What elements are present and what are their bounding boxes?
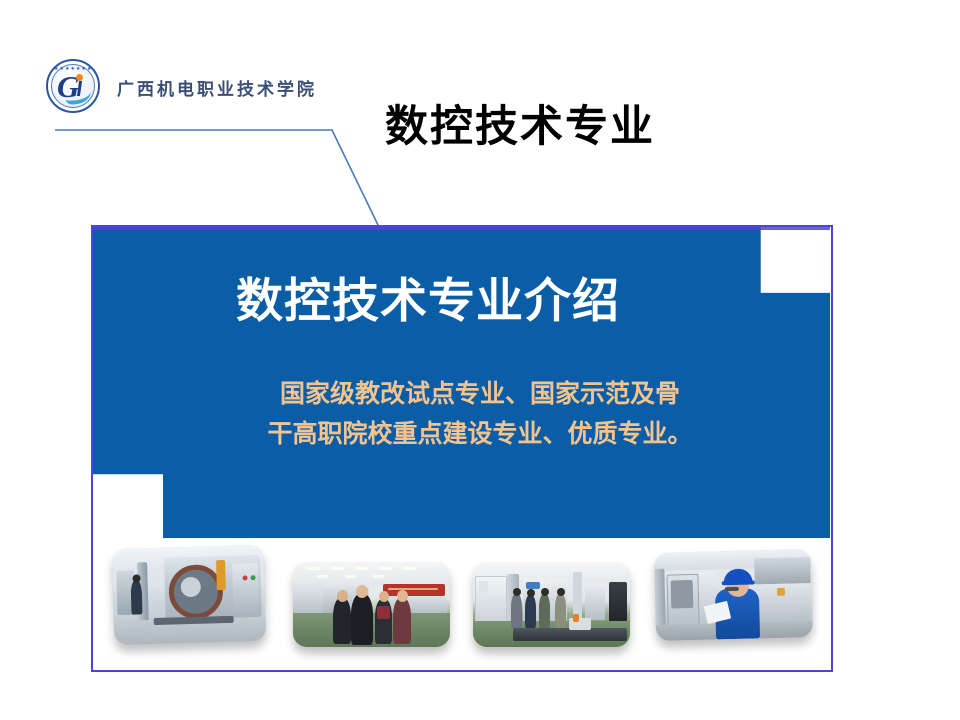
photo-4-overhead-rig (754, 557, 811, 584)
photo-2-lamp (317, 575, 328, 578)
photo-4-glasses-icon (725, 587, 739, 591)
photo-2-person-4 (393, 598, 411, 644)
photo-1-scene (112, 545, 267, 645)
photo-4-yellow-indicator (777, 588, 785, 596)
intro-subtitle: 国家级教改试点专业、国家示范及骨 干高职院校重点建设专业、优质专业。 (160, 374, 800, 454)
college-emblem-icon: ★★★★★★★ G (45, 58, 103, 116)
intro-block-top-edge (93, 227, 830, 230)
photo-engineer-blue-helmet (654, 549, 813, 641)
photo-3-dark-shelf (609, 582, 627, 622)
photo-3-student-3 (539, 594, 550, 628)
photo-2-person-2 (351, 594, 373, 645)
photo-3-student-1 (511, 594, 522, 628)
photo-2-red-banner (383, 584, 445, 596)
photo-2-machine-left (293, 582, 323, 614)
intro-subtitle-line-1: 国家级教改试点专业、国家示范及骨 (280, 379, 680, 408)
photo-3-student-4-head (557, 588, 565, 596)
photo-3-orange-part (573, 614, 579, 622)
photo-2-banner-text (388, 588, 438, 590)
leader-line-path (55, 130, 379, 227)
college-logo: ★★★★★★★ G 广西机电职业技术学院 (45, 56, 345, 118)
photo-2-lamp (307, 567, 320, 570)
photo-2-person-1-head (337, 590, 348, 602)
photo-3-rack (585, 586, 605, 620)
photo-1-cabinet-right (232, 563, 259, 612)
photo-vacuum-furnace-lab (112, 545, 267, 645)
intro-subtitle-line-2: 干高职院校重点建设专业、优质专业。 (160, 414, 800, 454)
photo-2-scene (293, 562, 450, 647)
photo-2-lamp (345, 575, 356, 578)
photo-1-indicator-red (242, 575, 247, 580)
slide-canvas: ★★★★★★★ G 广西机电职业技术学院 数控技术专业 数控技术专业介绍 国家级… (0, 0, 960, 720)
page-title: 数控技术专业 (385, 92, 655, 154)
photo-visitors-group (293, 562, 450, 647)
photo-3-student-2-head (527, 589, 535, 597)
photo-2-lamp (403, 567, 416, 570)
college-name-text: 广西机电职业技术学院 (117, 75, 317, 100)
photo-cnc-workshop-students (473, 562, 630, 647)
emblem-orange-dot-icon (76, 74, 83, 81)
photo-1-yellow-post (216, 560, 226, 590)
photo-2-lamp (379, 567, 392, 570)
photo-2-lamp (331, 567, 344, 570)
photo-3-student-3-head (541, 588, 549, 596)
photo-4-scene (654, 549, 813, 641)
photo-2-person-3-scarf (377, 606, 390, 619)
photo-3-student-2 (525, 595, 536, 628)
photo-4-panel-screen (671, 580, 694, 609)
photo-3-student-4 (555, 594, 566, 628)
photo-4-helmet-brim (722, 580, 755, 585)
photo-3-student-1-head (513, 588, 521, 596)
photo-2-person-4-head (397, 590, 408, 602)
photo-2-person-3-head (379, 591, 389, 602)
photo-1-worker-body (131, 580, 143, 614)
photo-2-person-2-head (356, 585, 368, 598)
photo-2-lamp (355, 567, 368, 570)
photo-3-cabinet-panel (479, 581, 488, 593)
photo-3-machine-a-label (526, 582, 540, 589)
photo-3-scene (473, 562, 630, 647)
intro-heading: 数控技术专业介绍 (93, 262, 763, 331)
photo-2-lamp (373, 575, 384, 578)
photo-2-person-1 (333, 598, 351, 644)
